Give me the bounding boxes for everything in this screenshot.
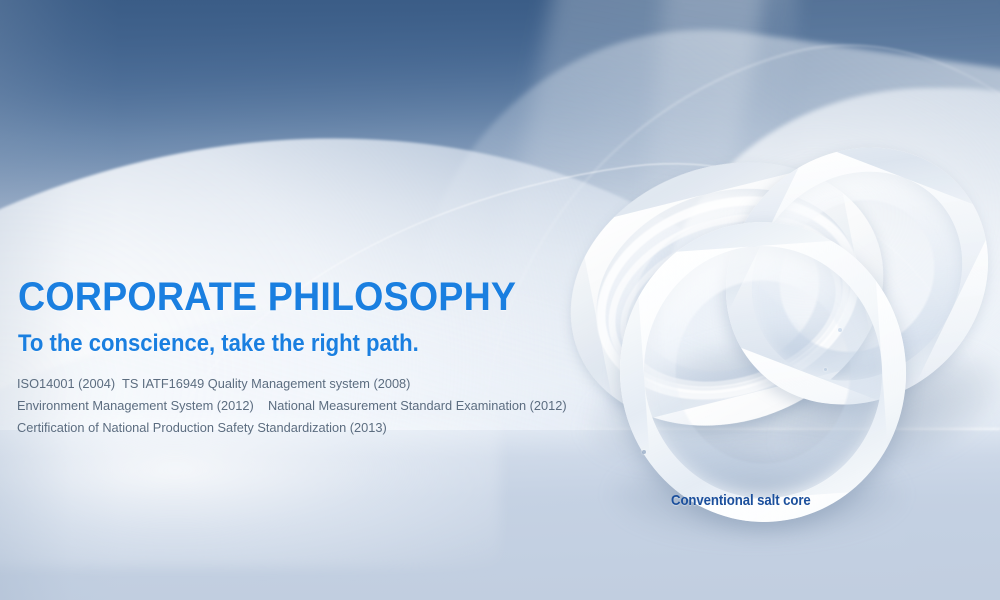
certification-line: Certification of National Production Saf…: [17, 417, 618, 439]
salt-core-rings-image: [560, 130, 1000, 530]
certification-list: ISO14001 (2004) TS IATF16949 Quality Man…: [17, 373, 637, 439]
product-caption: Conventional salt core: [671, 492, 811, 510]
ring-pin-hole: [838, 328, 842, 332]
ring-pin-hole: [824, 368, 827, 371]
corporate-philosophy-banner: CORPORATE PHILOSOPHY To the conscience, …: [0, 0, 1000, 600]
page-title: CORPORATE PHILOSOPHY: [18, 275, 516, 319]
certification-line: Environment Management System (2012) Nat…: [17, 395, 618, 417]
ring-pin-hole: [642, 450, 646, 454]
page-subtitle: To the conscience, take the right path.: [18, 329, 419, 359]
certification-line: ISO14001 (2004) TS IATF16949 Quality Man…: [17, 373, 618, 395]
